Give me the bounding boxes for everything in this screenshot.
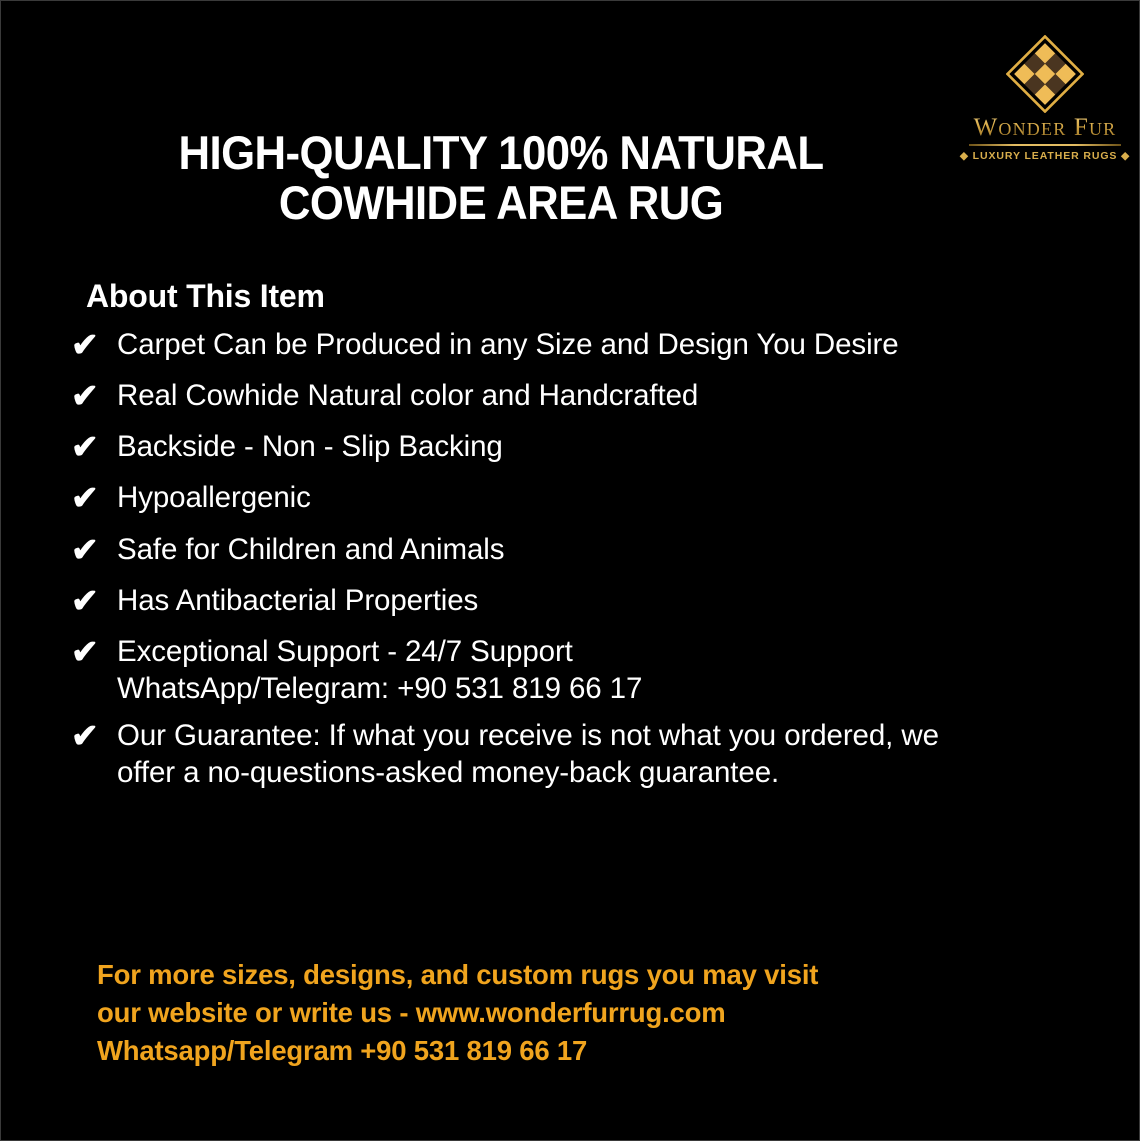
list-item-label: Real Cowhide Natural color and Handcraft…: [117, 377, 698, 414]
list-item: ✔ Real Cowhide Natural color and Handcra…: [71, 377, 1081, 414]
brand-divider: [969, 144, 1121, 146]
diamond-checker-logo-icon: [1006, 35, 1084, 113]
brand-name: Wonder Fur: [959, 115, 1131, 141]
section-heading: About This Item: [86, 278, 325, 315]
page-title: HIGH-QUALITY 100% NATURAL COWHIDE AREA R…: [92, 128, 910, 228]
list-item-label: Exceptional Support - 24/7 Support Whats…: [117, 633, 642, 707]
check-icon: ✔: [71, 717, 117, 752]
brand-logo: Wonder Fur ◆ LUXURY LEATHER RUGS ◆: [959, 35, 1131, 162]
list-item-label: Carpet Can be Produced in any Size and D…: [117, 326, 899, 363]
promo-poster: Wonder Fur ◆ LUXURY LEATHER RUGS ◆ HIGH-…: [0, 0, 1140, 1141]
feature-list: ✔ Carpet Can be Produced in any Size and…: [71, 326, 1081, 802]
list-item: ✔ Safe for Children and Animals: [71, 531, 1081, 568]
list-item-label: Safe for Children and Animals: [117, 531, 504, 568]
check-icon: ✔: [71, 531, 117, 566]
list-item-label: Our Guarantee: If what you receive is no…: [117, 717, 939, 791]
footer-contact-text: For more sizes, designs, and custom rugs…: [97, 956, 1057, 1070]
check-icon: ✔: [71, 479, 117, 514]
check-icon: ✔: [71, 582, 117, 617]
list-item: ✔ Has Antibacterial Properties: [71, 582, 1081, 619]
list-item: ✔ Exceptional Support - 24/7 Support Wha…: [71, 633, 1081, 707]
list-item-label: Hypoallergenic: [117, 479, 311, 516]
check-icon: ✔: [71, 428, 117, 463]
check-icon: ✔: [71, 377, 117, 412]
list-item: ✔ Carpet Can be Produced in any Size and…: [71, 326, 1081, 363]
list-item: ✔ Backside - Non - Slip Backing: [71, 428, 1081, 465]
check-icon: ✔: [71, 326, 117, 361]
brand-tagline: ◆ LUXURY LEATHER RUGS ◆: [959, 150, 1131, 162]
list-item: ✔ Hypoallergenic: [71, 479, 1081, 516]
list-item-label: Has Antibacterial Properties: [117, 582, 478, 619]
list-item: ✔ Our Guarantee: If what you receive is …: [71, 717, 1081, 791]
check-icon: ✔: [71, 633, 117, 668]
list-item-label: Backside - Non - Slip Backing: [117, 428, 503, 465]
